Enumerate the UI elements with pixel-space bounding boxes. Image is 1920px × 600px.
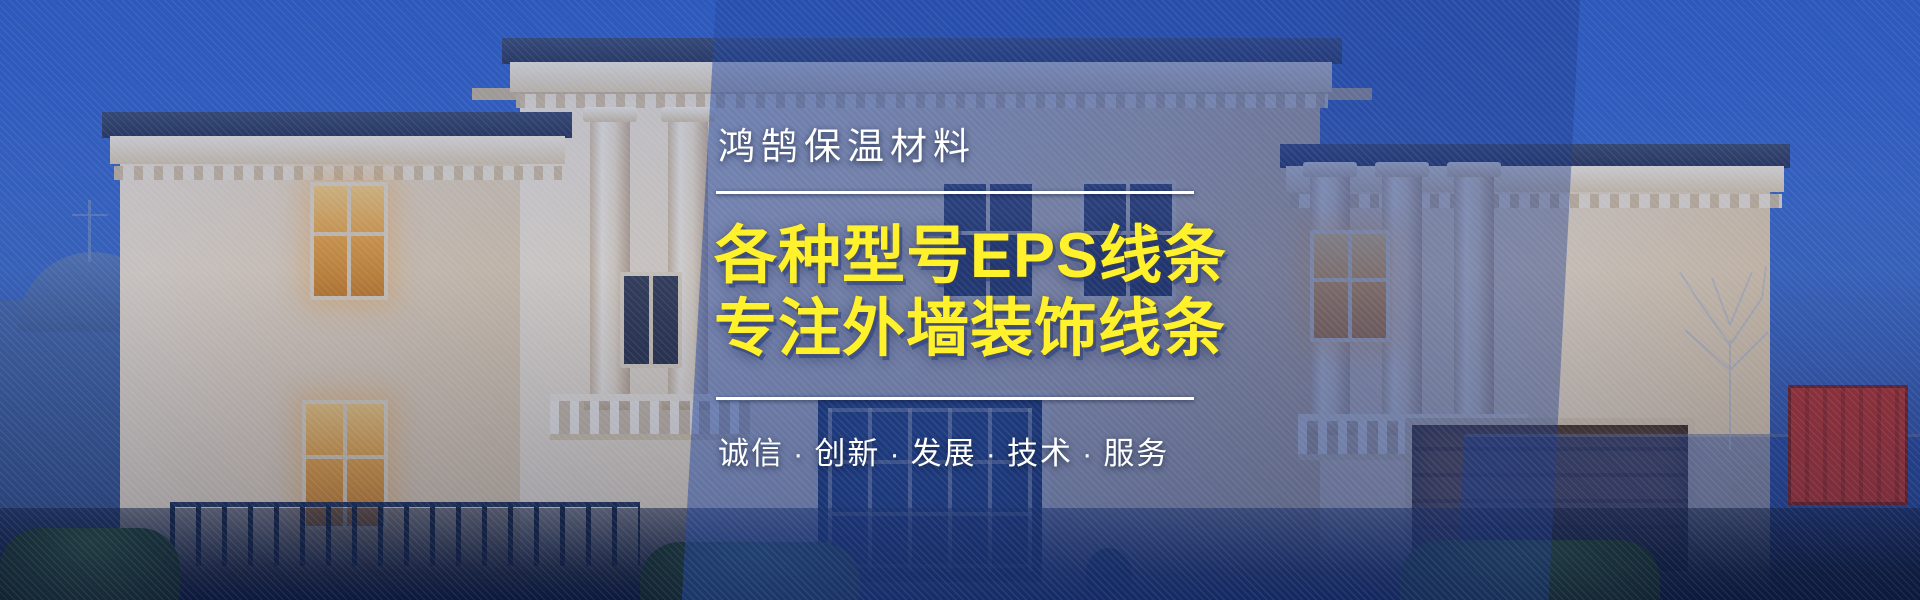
banner-copy: 鸿鹄保温材料 各种型号EPS线条 专注外墙装饰线条 诚信·创新·发展·技术·服务 (700, 0, 1520, 600)
bare-tree (1580, 220, 1770, 450)
headline-line-1: 各种型号EPS线条 (714, 220, 1520, 294)
cornice-left (110, 136, 565, 164)
divider-top (716, 191, 1194, 194)
tagline-separator: · (977, 436, 1007, 471)
brand-name: 鸿鹄保温材料 (718, 127, 1520, 168)
hedge (0, 528, 180, 600)
dentil-row-left (114, 166, 562, 180)
hero-banner: 鸿鹄保温材料 各种型号EPS线条 专注外墙装饰线条 诚信·创新·发展·技术·服务 (0, 0, 1920, 600)
tagline-item: 服务 (1103, 436, 1169, 471)
tagline-separator: · (1073, 436, 1103, 471)
headline-line-2: 专注外墙装饰线条 (714, 293, 1520, 367)
tagline-item: 诚信 (718, 436, 784, 471)
window (620, 272, 682, 368)
foreground-railing (170, 502, 640, 566)
tagline-separator: · (880, 436, 910, 471)
tagline-separator: · (784, 436, 814, 471)
roof-eave-left (102, 112, 572, 138)
divider-bottom (716, 397, 1194, 400)
tagline-item: 创新 (814, 436, 880, 471)
tagline: 诚信·创新·发展·技术·服务 (718, 428, 1520, 473)
window-lit (310, 182, 388, 300)
distant-antenna (88, 200, 91, 262)
red-container (1788, 385, 1908, 505)
tagline-item: 发展 (911, 436, 977, 471)
tagline-item: 技术 (1007, 436, 1073, 471)
